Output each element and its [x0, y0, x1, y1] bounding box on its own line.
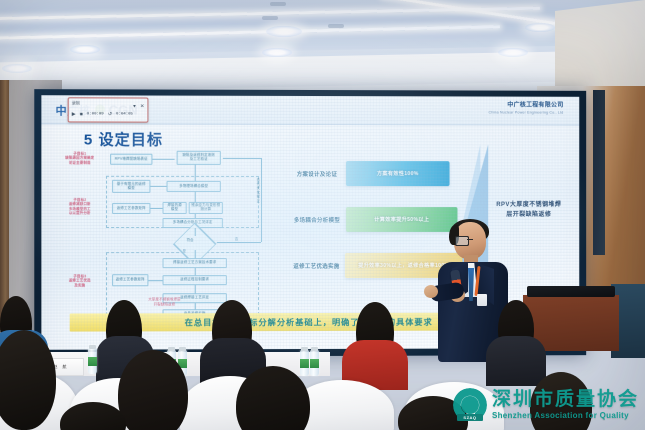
flowchart-node: 焊接热源 模型	[163, 202, 187, 214]
presenter-hand-gesture	[424, 285, 438, 298]
corporate-name: 中广核工程有限公司 China Nuclear Power Engineerin…	[488, 102, 563, 114]
goal-bar-label: 多场耦合分析模型	[288, 215, 346, 223]
glasses-icon	[455, 236, 485, 244]
undo-icon[interactable]: ↺	[108, 111, 112, 117]
watermark-text: 深圳市质量协会 Shenzhen Association for Quality	[492, 390, 639, 421]
flowchart-connector	[195, 192, 196, 202]
flowchart-connector	[150, 186, 166, 187]
flowchart-connector	[148, 280, 162, 281]
audience-member-torso	[486, 336, 546, 386]
flowchart-connector	[195, 165, 196, 181]
logo-mark-text: SZAQ	[463, 415, 476, 420]
flowchart-node: 基于有限元的返修 模型	[112, 180, 150, 193]
flowchart-node: RPV堆焊层缺陷表征	[110, 154, 152, 165]
downlight-icon	[262, 48, 292, 57]
slide-title: 5 设定目标	[84, 129, 163, 150]
flowchart-branch-yes: 是	[183, 248, 186, 253]
flowchart-side-tag: 子目标3 返修工艺优选 及实施	[58, 274, 102, 287]
corporate-name-cn: 中广核工程有限公司	[488, 102, 563, 109]
flowchart-node: 返修工艺参数矩阵	[112, 203, 150, 214]
goal-bar-value: 方案有效性100%	[377, 170, 419, 177]
flowchart-side-tag: 子目标2 返修减缺口新 多场模型的工 以以提升分析	[58, 198, 102, 216]
recording-elapsed-time: 0:00:09	[87, 112, 104, 116]
flowchart-connector	[195, 214, 196, 218]
flowchart-loop-label: 迭代优化修正	[255, 178, 259, 224]
recording-total-time: 0:04:05	[116, 112, 133, 116]
circular-quality-logo-icon: SZAQ	[453, 388, 487, 422]
flowchart-node: 残余应力与变形预测计算	[189, 202, 223, 214]
logo-dot	[461, 396, 479, 414]
flowchart-node: 返修工艺参数矩阵	[112, 274, 148, 286]
logo-banner: SZAQ	[457, 414, 483, 421]
water-bottle	[88, 348, 97, 374]
ceiling-vent	[270, 2, 286, 6]
recording-toolbar[interactable]: 录制 ▾ ✕ ▶ ■ 0:00:09 ↺ 0:04:05	[68, 97, 149, 122]
flowchart-node: 焊接返修工艺方案技术要求	[163, 258, 227, 268]
cove-light-strip	[0, 25, 500, 40]
downlight-icon	[525, 23, 555, 32]
flowchart-connector	[150, 208, 162, 209]
flowchart-node: 多物理场耦合模型	[167, 181, 221, 192]
goal-bar-value: 计算效率提升50%以上	[374, 216, 429, 223]
stop-icon[interactable]: ■	[80, 111, 83, 117]
goal-bar-label: 返修工艺优选实施	[288, 261, 345, 269]
downlight-icon	[2, 64, 32, 73]
flowchart-connector	[195, 285, 196, 293]
flowchart-connector	[217, 242, 261, 243]
ceiling-vent	[328, 24, 344, 28]
recording-toolbar-label: 录制	[72, 100, 80, 106]
wall-left-wood-trim	[0, 80, 9, 330]
flowchart-connector	[261, 158, 262, 242]
flowchart-decision-label: 符合	[187, 237, 194, 242]
downlight-icon	[266, 26, 302, 37]
ceiling-vent	[262, 16, 278, 20]
audience-member	[118, 350, 188, 430]
flowchart-side-tag: 子目标1 缺陷源因方案确定 论证主要制造	[58, 152, 102, 165]
corporate-name-en: China Nuclear Power Engineering Co., Ltd	[488, 110, 563, 114]
flowchart-connector	[195, 228, 196, 236]
slide-annotation: RPV大厚度不锈钢堆焊层开裂缺陷返修	[494, 201, 563, 220]
goal-bar-fill: 方案有效性100%	[346, 161, 450, 186]
flowchart-node: 返修过程控制要求	[163, 275, 227, 285]
play-icon[interactable]: ▶	[72, 111, 76, 117]
flowchart-branch-no: 否	[235, 236, 238, 241]
ceiling	[0, 0, 645, 92]
flowchart-connector	[195, 268, 196, 275]
flowchart-connector	[152, 159, 174, 160]
flowchart-connector	[195, 250, 196, 258]
recording-toolbar-titlebar: 录制 ▾ ✕	[72, 99, 145, 107]
watermark-cn: 深圳市质量协会	[492, 390, 639, 411]
flowchart-connector	[223, 158, 261, 159]
recording-toolbar-controls[interactable]: ▶ ■ 0:00:09 ↺ 0:04:05	[72, 109, 145, 119]
goal-bar-label: 方案设计及论证	[288, 169, 346, 177]
water-bottle	[310, 350, 319, 376]
wall-right-shadow-gap	[593, 90, 605, 255]
flowchart-node: 缺陷及返修判定准则 及工艺验证	[177, 151, 221, 165]
watermark-en: Shenzhen Association for Quality	[492, 412, 639, 421]
water-bottle	[300, 350, 309, 376]
podium-monitor	[527, 286, 615, 297]
downlight-icon	[498, 48, 528, 57]
downlight-icon	[70, 45, 100, 54]
goal-bar-row: 方案设计及论证 方案有效性100%	[288, 158, 462, 189]
screenshot-root: 中广核 CGN 中广核工程有限公司 China Nuclear Power En…	[0, 0, 645, 430]
presenter-badge	[477, 294, 487, 306]
watermark-logo: SZAQ 深圳市质量协会 Shenzhen Association for Qu…	[453, 388, 639, 422]
